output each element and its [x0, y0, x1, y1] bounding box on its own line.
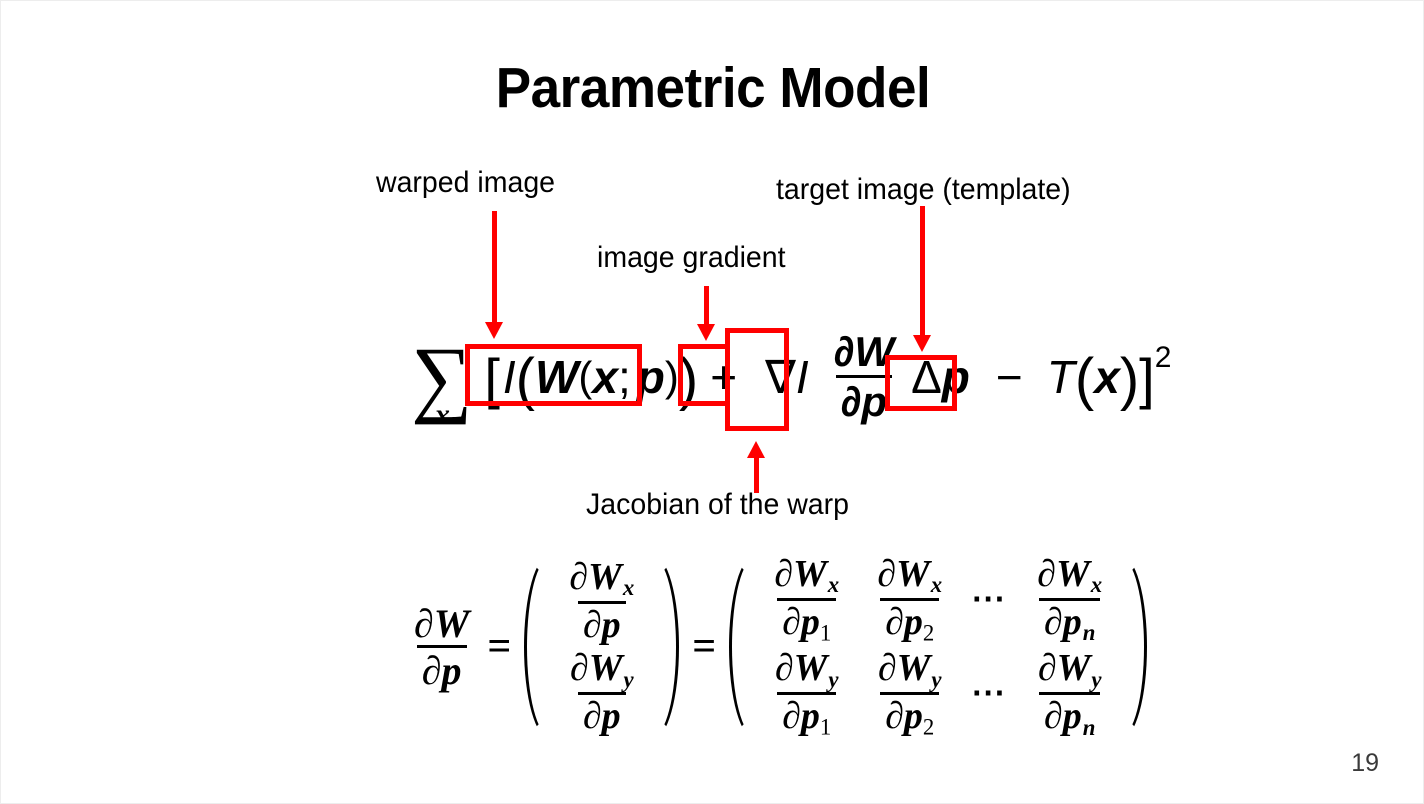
template-close-paren: ) [1120, 346, 1139, 413]
matrix-cell-y2: ∂Wy ∂p2 [873, 649, 947, 739]
matrix-cell-xn-numerator: ∂Wx [1032, 555, 1107, 598]
matrix-cell-x2-numerator: ∂Wx [872, 555, 947, 598]
matrix-cell-y1-denominator: ∂p1 [777, 692, 836, 739]
lhs-fraction: ∂W ∂p [409, 603, 474, 692]
jacobian-denominator: ∂p [836, 375, 892, 424]
equals-sign-1: = [474, 623, 524, 671]
page-number: 19 [1351, 749, 1379, 778]
arrow-warped-image [484, 211, 504, 339]
vector-open-paren [524, 553, 550, 741]
lhs-numerator: ∂W [409, 603, 474, 646]
summation-symbol: ∑ x [411, 343, 472, 412]
matrix-close-paren [1121, 553, 1147, 741]
matrix-cell-x2: ∂Wx ∂p2 [872, 555, 947, 645]
arrow-jacobian [746, 441, 766, 493]
exponent-two: 2 [1155, 341, 1172, 375]
template-coord-symbol: x [1094, 350, 1120, 404]
slide-canvas: Parametric Model warped image image grad… [0, 0, 1424, 804]
matrix-cell-y1-numerator: ∂Wy [770, 649, 844, 692]
vector-cell-x-numerator: ∂Wx [564, 558, 639, 601]
callout-label-image-gradient: image gradient [597, 241, 786, 275]
vector-close-paren [653, 553, 679, 741]
minus-operator: − [996, 350, 1023, 404]
ellipsis-row-x: ⋯ [971, 583, 1008, 617]
matrix-cell-x1-denominator: ∂p1 [777, 598, 836, 645]
lhs-denominator: ∂p [417, 645, 467, 692]
matrix-equation: ∂W ∂p = ∂Wx ∂p ∂Wy ∂p = ∂Wx ∂p1 [409, 553, 1147, 741]
arrow-image-gradient [696, 286, 716, 341]
gradient-image-symbol: I [796, 350, 809, 404]
callout-label-jacobian: Jacobian of the warp [586, 488, 849, 522]
ellipsis-row-y: ⋯ [971, 677, 1008, 711]
vector-cell-x-denominator: ∂p [578, 601, 626, 646]
matrix-cell-y1: ∂Wy ∂p1 [770, 649, 844, 739]
matrix-open-paren [729, 553, 755, 741]
matrix-cell-y2-denominator: ∂p2 [880, 692, 939, 739]
arrow-target-image [912, 206, 932, 352]
highlight-box-image-gradient [678, 344, 730, 406]
highlight-box-jacobian [725, 328, 789, 431]
sum-subscript: x [435, 403, 450, 427]
matrix-cell-x2-denominator: ∂p2 [880, 598, 939, 645]
matrix-cell-y2-numerator: ∂Wy [873, 649, 947, 692]
highlight-box-warped-image [465, 344, 642, 406]
matrix-column-2: ∂Wx ∂p2 ∂Wy ∂p2 [858, 553, 961, 741]
matrix-cell-x1: ∂Wx ∂p1 [769, 555, 844, 645]
matrix-cell-yn-denominator: ∂pn [1039, 692, 1100, 739]
matrix-cell-xn-denominator: ∂pn [1039, 598, 1100, 645]
matrix-cell-x1-numerator: ∂Wx [769, 555, 844, 598]
callout-label-target-image: target image (template) [776, 173, 1071, 207]
callout-label-warped-image: warped image [376, 166, 555, 200]
vector-cell-y-denominator: ∂p [578, 692, 626, 737]
matrix-ellipsis-column: ⋯ ⋯ [961, 553, 1018, 741]
template-symbol: T [1047, 350, 1075, 404]
close-paren-inner: ) [665, 353, 679, 401]
close-bracket: ] [1139, 346, 1155, 411]
highlight-box-target-image [885, 355, 957, 411]
equals-sign-2: = [679, 623, 729, 671]
page-title: Parametric Model [51, 55, 1375, 121]
template-open-paren: ( [1075, 346, 1094, 413]
